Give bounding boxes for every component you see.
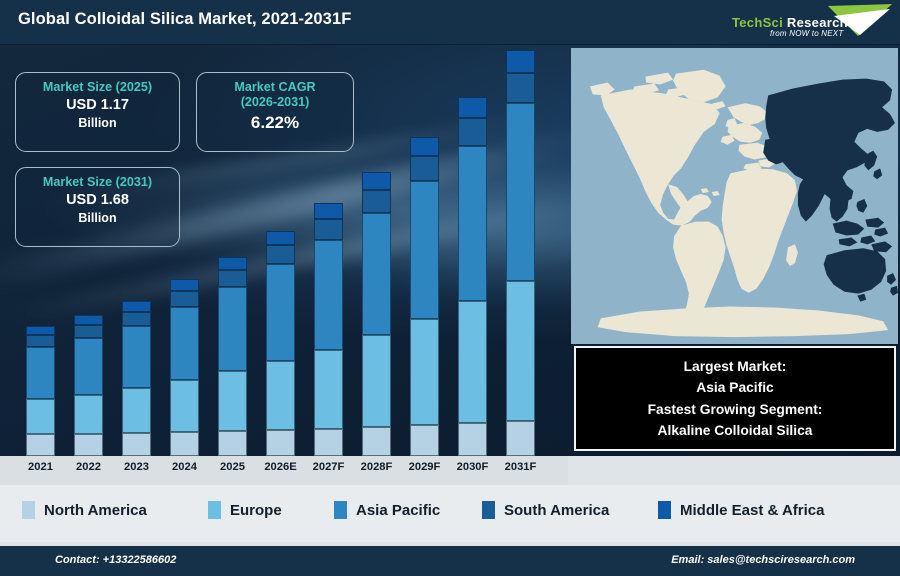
bar-segment-europe — [506, 281, 535, 421]
bar-segment-south-america — [362, 190, 391, 213]
bar-2025 — [218, 257, 247, 456]
bar-2024 — [170, 279, 199, 456]
bar-segment-north-america — [506, 421, 535, 456]
legend-label: South America — [504, 502, 609, 519]
footer-contact[interactable]: Contact: +13322586602 — [55, 554, 176, 566]
legend-item-asia-pacific[interactable]: Asia Pacific — [334, 501, 440, 519]
bar-segment-south-america — [122, 312, 151, 326]
bar-segment-south-america — [74, 325, 103, 338]
right-panel: Largest Market: Asia Pacific Fastest Gro… — [568, 45, 900, 456]
legend-label: Middle East & Africa — [680, 502, 824, 519]
bar-segment-middle-east-africa — [314, 203, 343, 219]
bar-segment-north-america — [218, 431, 247, 456]
legend-item-europe[interactable]: Europe — [208, 501, 282, 519]
bar-segment-middle-east-africa — [170, 279, 199, 291]
bar-segment-middle-east-africa — [74, 315, 103, 325]
legend-label: Europe — [230, 502, 282, 519]
logo-techsci-text: TechSci — [732, 15, 783, 30]
bar-segment-south-america — [26, 335, 55, 347]
page-title: Global Colloidal Silica Market, 2021-203… — [18, 10, 351, 29]
kpi-value: 6.22% — [197, 110, 353, 136]
bar-segment-europe — [74, 395, 103, 434]
bar-segment-asia-pacific — [122, 326, 151, 388]
bar-segment-north-america — [266, 430, 295, 456]
logo-research-text: Research — [783, 15, 848, 30]
legend-item-north-america[interactable]: North America — [22, 501, 147, 519]
bar-segment-north-america — [74, 434, 103, 456]
bar-segment-middle-east-africa — [362, 172, 391, 190]
kpi-unit: Billion — [16, 115, 179, 132]
footer-bar: Contact: +13322586602 Email: sales@techs… — [0, 546, 900, 576]
legend-label: North America — [44, 502, 147, 519]
bar-segment-middle-east-africa — [218, 257, 247, 270]
bar-segment-asia-pacific — [74, 338, 103, 395]
bar-2026E — [266, 231, 295, 456]
bar-2028F — [362, 172, 391, 456]
bar-2029F — [410, 137, 439, 456]
kpi-market-size-2025: Market Size (2025) USD 1.17 Billion — [15, 72, 180, 152]
bar-segment-europe — [314, 350, 343, 429]
bar-segment-north-america — [314, 429, 343, 456]
logo-wordmark: TechSci Research — [732, 15, 848, 30]
bar-segment-europe — [458, 301, 487, 423]
bar-2027F — [314, 203, 343, 456]
bar-segment-asia-pacific — [410, 181, 439, 319]
key-insights-box: Largest Market: Asia Pacific Fastest Gro… — [574, 346, 896, 451]
bar-segment-middle-east-africa — [122, 301, 151, 312]
bar-segment-europe — [410, 319, 439, 425]
world-map-svg — [571, 48, 898, 344]
legend-item-middle-east-africa[interactable]: Middle East & Africa — [658, 501, 824, 519]
bar-2023 — [122, 301, 151, 456]
bar-segment-middle-east-africa — [266, 231, 295, 245]
bar-segment-asia-pacific — [362, 213, 391, 335]
bar-segment-north-america — [122, 433, 151, 456]
bar-segment-middle-east-africa — [458, 97, 487, 118]
bar-segment-asia-pacific — [314, 240, 343, 350]
bar-segment-asia-pacific — [170, 307, 199, 380]
bar-segment-south-america — [410, 156, 439, 181]
bar-segment-europe — [170, 380, 199, 432]
bar-segment-middle-east-africa — [26, 326, 55, 335]
world-map — [571, 48, 898, 344]
bar-segment-asia-pacific — [266, 264, 295, 361]
bar-segment-north-america — [170, 432, 199, 456]
logo-tagline: from NOW to NEXT — [770, 29, 843, 38]
kpi-market-cagr: Market CAGR (2026-2031) 6.22% — [196, 72, 354, 152]
bar-segment-europe — [218, 371, 247, 431]
kpi-label: Market Size (2031) — [16, 175, 179, 190]
bar-segment-asia-pacific — [26, 347, 55, 399]
legend-swatch-icon — [208, 501, 221, 519]
bar-segment-north-america — [458, 423, 487, 456]
bar-2031F — [506, 50, 535, 456]
bar-segment-north-america — [26, 434, 55, 456]
largest-market-label: Largest Market: — [684, 356, 787, 378]
bar-segment-middle-east-africa — [410, 137, 439, 156]
bar-segment-south-america — [506, 73, 535, 103]
techsci-research-logo[interactable]: TechSci Research from NOW to NEXT — [714, 2, 894, 44]
bar-segment-south-america — [266, 245, 295, 264]
fastest-segment-value: Alkaline Colloidal Silica — [658, 420, 813, 442]
bar-segment-south-america — [170, 291, 199, 307]
fastest-segment-label: Fastest Growing Segment: — [648, 399, 823, 421]
bar-segment-europe — [122, 388, 151, 433]
bar-segment-asia-pacific — [218, 287, 247, 371]
legend-swatch-icon — [22, 501, 35, 519]
bar-2030F — [458, 97, 487, 456]
bar-segment-asia-pacific — [506, 103, 535, 281]
legend-swatch-icon — [482, 501, 495, 519]
header-bar: Global Colloidal Silica Market, 2021-203… — [0, 0, 900, 45]
kpi-value: USD 1.68 — [16, 190, 179, 210]
bar-segment-north-america — [410, 425, 439, 456]
infographic-root: Global Colloidal Silica Market, 2021-203… — [0, 0, 900, 576]
kpi-label-period: (2026-2031) — [197, 95, 353, 110]
bar-segment-asia-pacific — [458, 146, 487, 301]
kpi-value: USD 1.17 — [16, 95, 179, 115]
kpi-label: Market Size (2025) — [16, 80, 179, 95]
footer-email[interactable]: Email: sales@techsciresearch.com — [671, 554, 855, 566]
bar-segment-south-america — [458, 118, 487, 146]
bar-segment-europe — [26, 399, 55, 434]
x-axis-label-2031F: 2031F — [492, 461, 550, 473]
bar-2021 — [26, 326, 55, 456]
bar-segment-middle-east-africa — [506, 50, 535, 73]
kpi-label: Market CAGR — [197, 80, 353, 95]
legend-label: Asia Pacific — [356, 502, 440, 519]
bar-segment-south-america — [218, 270, 247, 287]
bar-segment-south-america — [314, 219, 343, 240]
kpi-unit: Billion — [16, 210, 179, 227]
legend-swatch-icon — [658, 501, 671, 519]
largest-market-value: Asia Pacific — [696, 377, 773, 399]
legend-item-south-america[interactable]: South America — [482, 501, 609, 519]
bar-segment-europe — [362, 335, 391, 427]
chart-legend: North AmericaEuropeAsia PacificSouth Ame… — [0, 485, 900, 542]
bar-2022 — [74, 315, 103, 456]
x-axis-labels: 202120222023202420252026E2027F2028F2029F… — [0, 456, 568, 485]
legend-swatch-icon — [334, 501, 347, 519]
kpi-market-size-2031: Market Size (2031) USD 1.68 Billion — [15, 167, 180, 247]
bar-segment-europe — [266, 361, 295, 430]
bar-segment-north-america — [362, 427, 391, 456]
